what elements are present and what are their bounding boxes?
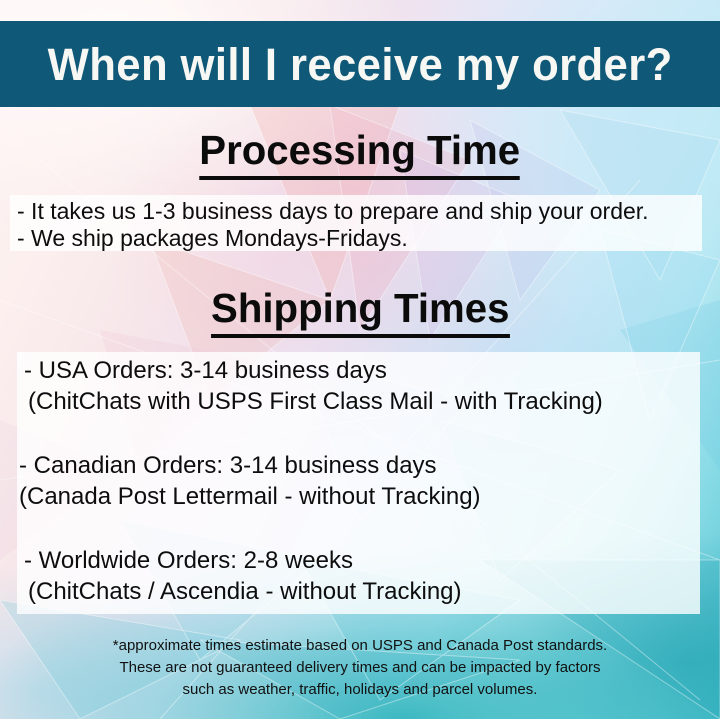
section-heading-processing-time-label: Processing Time <box>200 130 521 180</box>
footer-disclaimer-line-2: These are not guaranteed delivery times … <box>0 657 720 679</box>
shipping-group-canada-line-2: (Canada Post Lettermail - without Tracki… <box>19 481 481 512</box>
section-heading-processing-time: Processing Time <box>0 130 720 180</box>
shipping-group-usa-line-1: - USA Orders: 3-14 business days <box>24 355 603 386</box>
footer-disclaimer-line-3: such as weather, traffic, holidays and p… <box>0 679 720 701</box>
footer-disclaimer-line-1: *approximate times estimate based on USP… <box>0 635 720 657</box>
footer-disclaimer: *approximate times estimate based on USP… <box>0 635 720 701</box>
shipping-group-canada-line-1: - Canadian Orders: 3-14 business days <box>19 450 481 481</box>
processing-time-line-2: - We ship packages Mondays-Fridays. <box>17 225 649 252</box>
section-heading-shipping-times-label: Shipping Times <box>211 288 509 338</box>
shipping-group-usa: - USA Orders: 3-14 business days (ChitCh… <box>24 355 603 417</box>
page-title: When will I receive my order? <box>48 42 673 87</box>
header-band: When will I receive my order? <box>0 21 720 107</box>
shipping-group-worldwide-line-1: - Worldwide Orders: 2-8 weeks <box>24 545 462 576</box>
section-heading-shipping-times: Shipping Times <box>0 288 720 338</box>
shipping-info-graphic: When will I receive my order? Processing… <box>0 0 720 719</box>
processing-time-line-1: - It takes us 1-3 business days to prepa… <box>17 198 649 225</box>
shipping-group-usa-line-2: (ChitChats with USPS First Class Mail - … <box>24 386 603 417</box>
shipping-group-worldwide-line-2: (ChitChats / Ascendia - without Tracking… <box>24 576 462 607</box>
shipping-group-canada: - Canadian Orders: 3-14 business days (C… <box>19 450 481 512</box>
processing-time-lines: - It takes us 1-3 business days to prepa… <box>17 198 649 252</box>
shipping-group-worldwide: - Worldwide Orders: 2-8 weeks (ChitChats… <box>24 545 462 607</box>
